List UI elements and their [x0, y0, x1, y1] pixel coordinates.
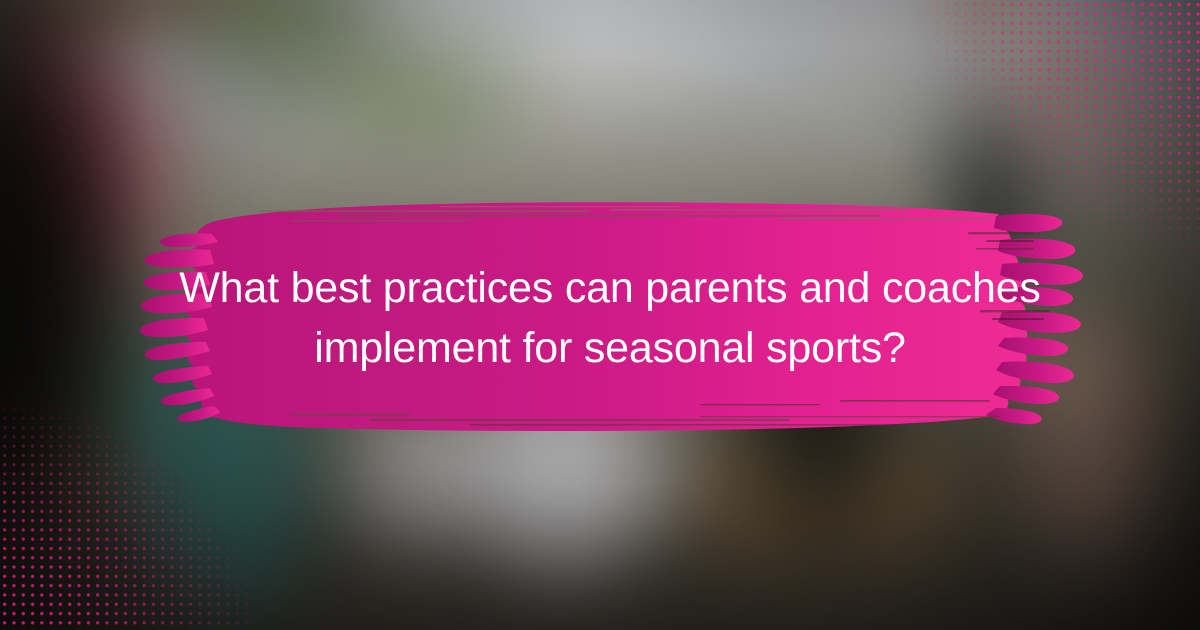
page-title: What best practices can parents and coac…	[150, 258, 1070, 378]
question-card: What best practices can parents and coac…	[0, 0, 1200, 630]
